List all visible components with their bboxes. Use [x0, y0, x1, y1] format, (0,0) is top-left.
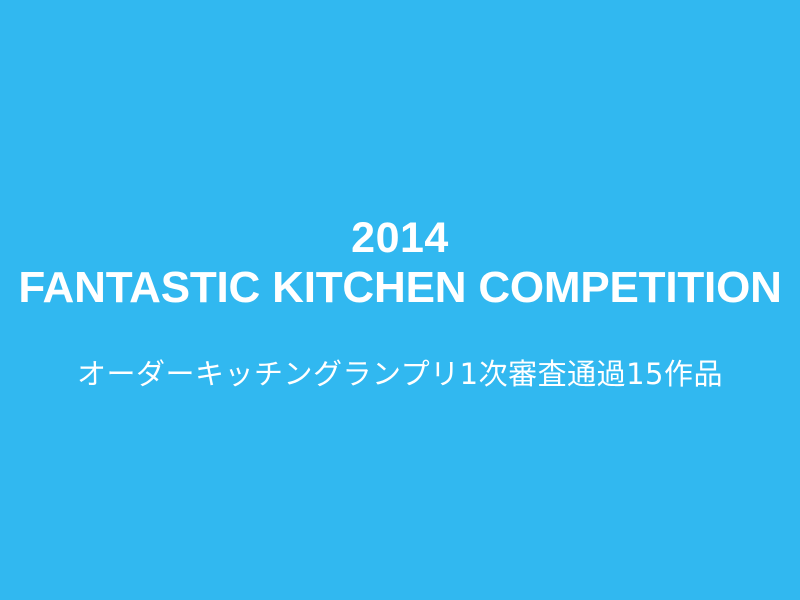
subtitle-text: オーダーキッチングランプリ1次審査通過15作品 [77, 355, 723, 393]
title-year: 2014 [0, 213, 800, 263]
slide-title: 2014 FANTASTIC KITCHEN COMPETITION [0, 213, 800, 313]
slide-subtitle: オーダーキッチングランプリ1次審査通過15作品 [0, 355, 800, 393]
title-main: FANTASTIC KITCHEN COMPETITION [0, 263, 800, 313]
presentation-slide: 2014 FANTASTIC KITCHEN COMPETITION オーダーキ… [0, 0, 800, 600]
